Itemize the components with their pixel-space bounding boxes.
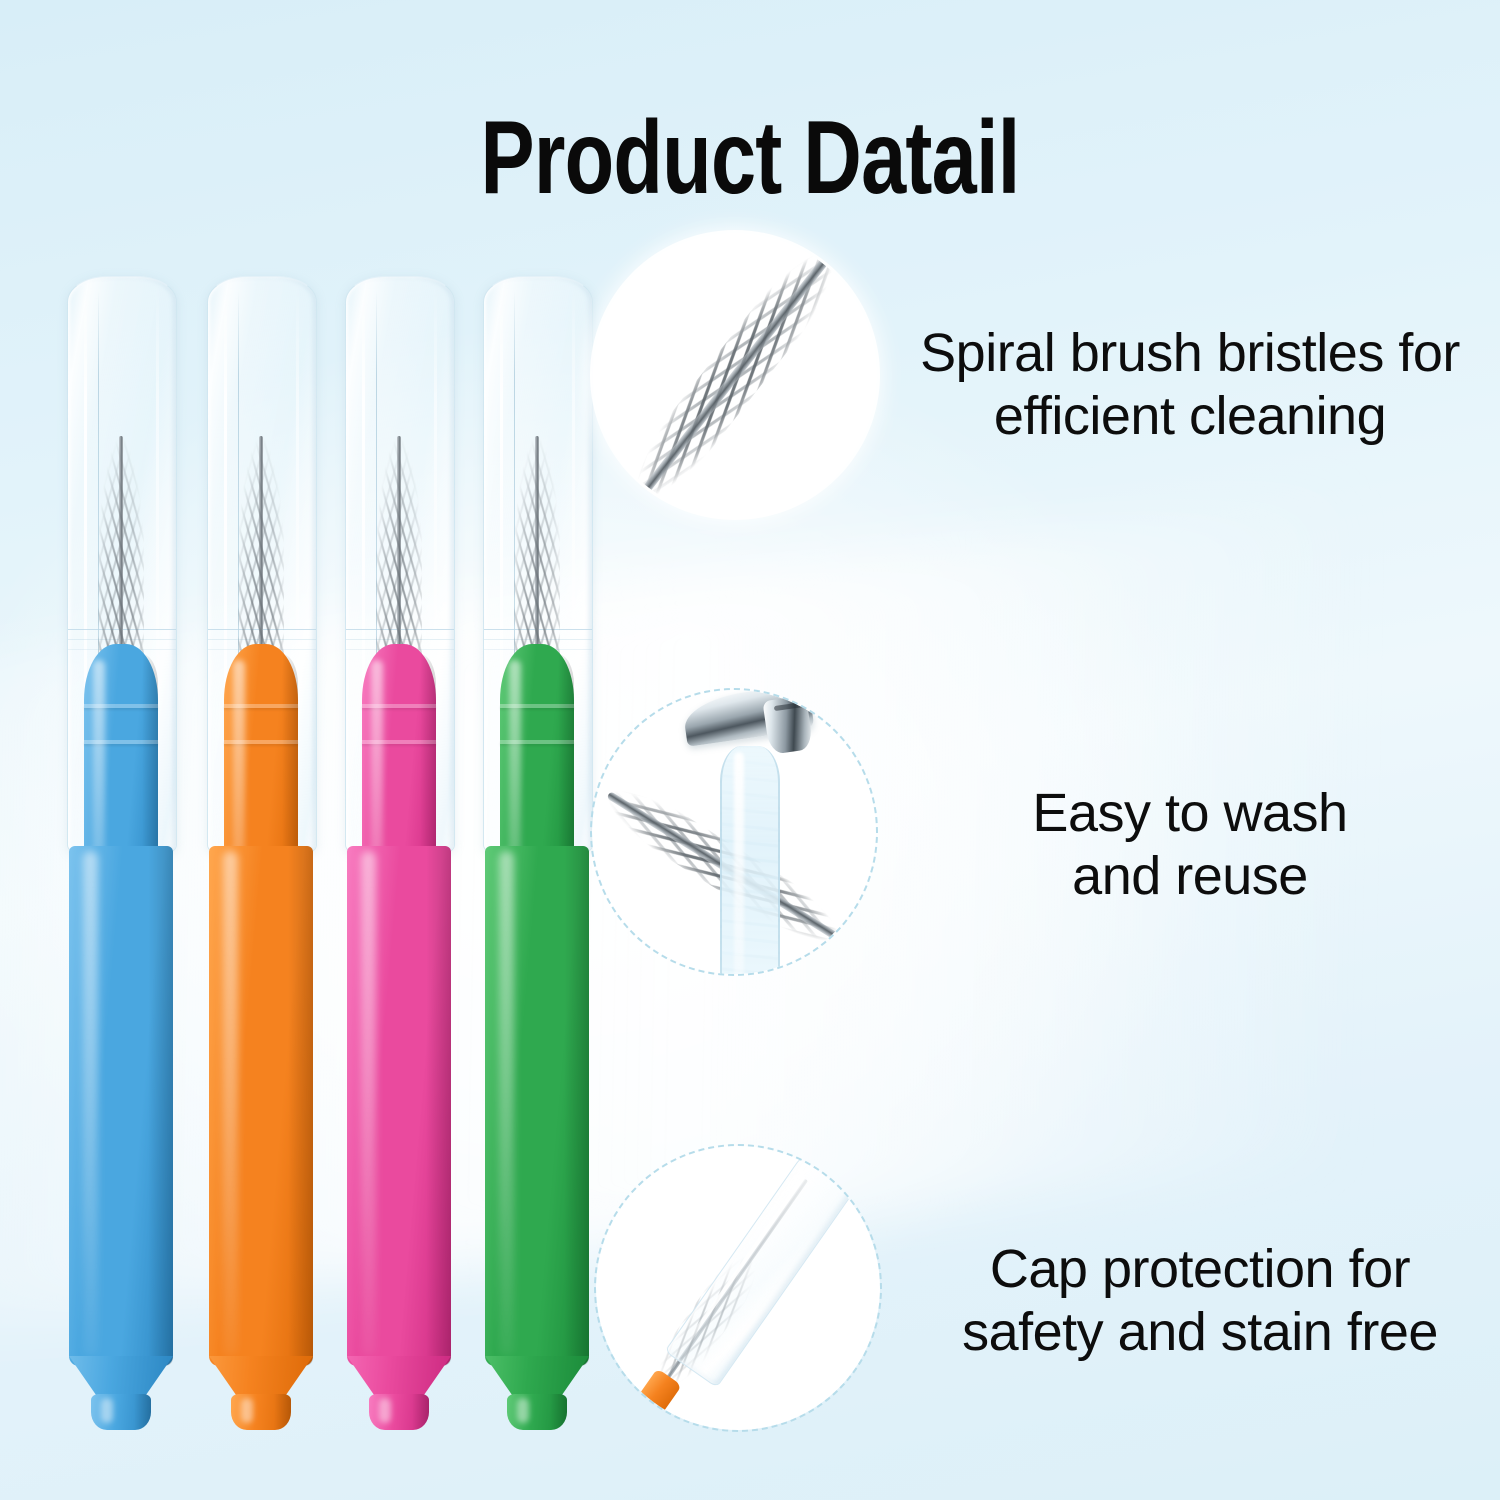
feature-image-cap-protection <box>594 1144 882 1432</box>
feature-caption-cap-protection: Cap protection for safety and stain free <box>930 1238 1470 1363</box>
product-detail-image: Product Datail <box>0 0 1500 1500</box>
capped-brush-icon <box>613 1146 863 1430</box>
feature-cap-protection: Cap protection for safety and stain free <box>0 0 1500 1500</box>
page-title: Product Datail <box>165 106 1335 210</box>
